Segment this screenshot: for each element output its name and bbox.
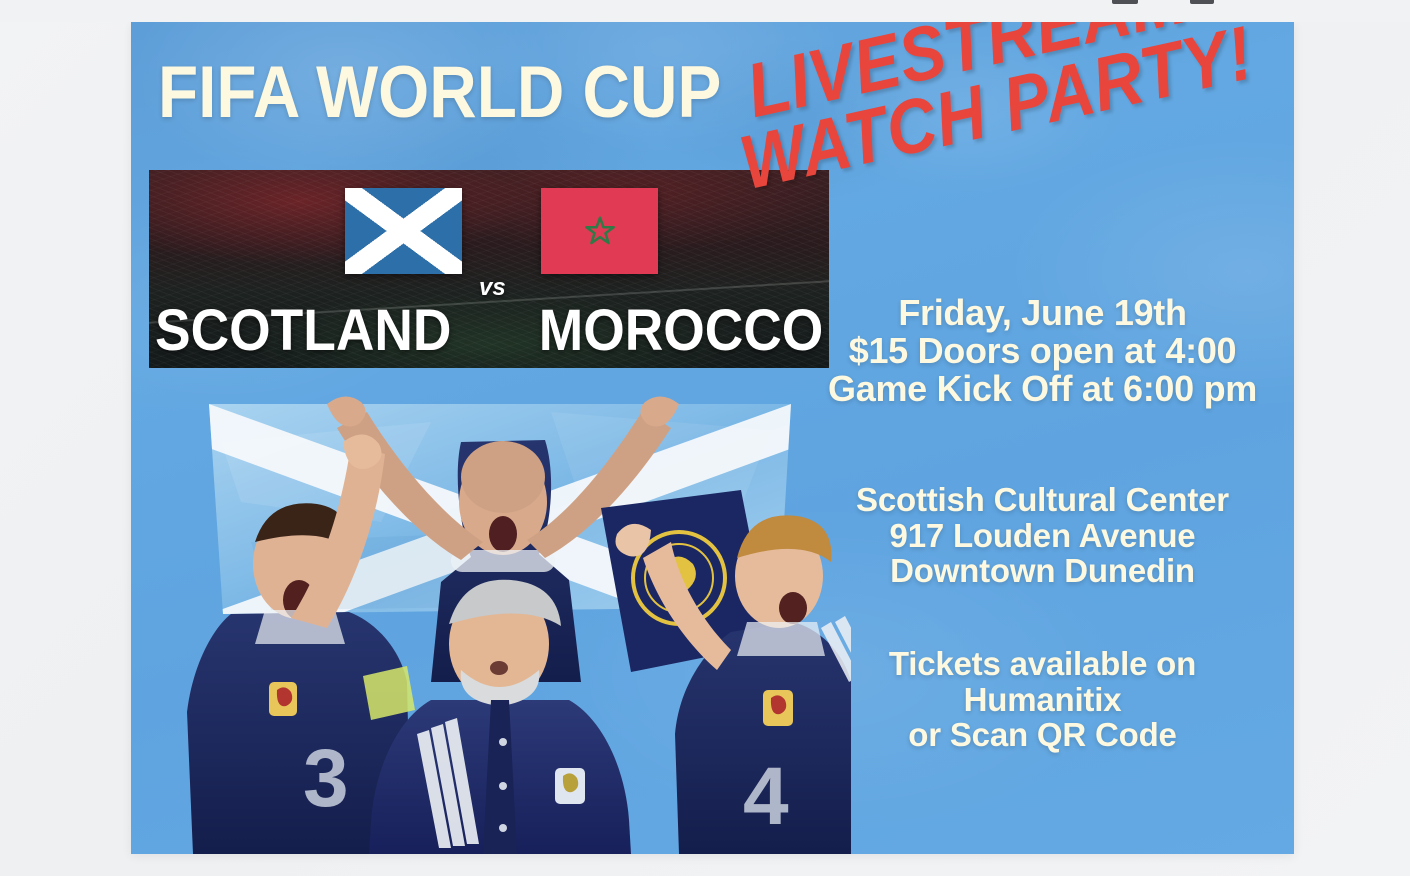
coach-center-front (369, 580, 631, 854)
event-kickoff: Game Kick Off at 6:00 pm (791, 370, 1294, 408)
event-when-block: Friday, June 19th $15 Doors open at 4:00… (791, 294, 1294, 408)
tickets-qr-hint: or Scan QR Code (791, 717, 1294, 752)
page-title: FIFA WORLD CUP (158, 58, 721, 129)
svg-text:3: 3 (303, 733, 349, 824)
tickets-line-1: Tickets available on (791, 646, 1294, 681)
morocco-flag-icon (541, 188, 658, 274)
venue-name: Scottish Cultural Center (791, 482, 1294, 517)
event-price-doors: $15 Doors open at 4:00 (791, 332, 1294, 370)
team-names-row: SCOTLAND MOROCCO (149, 302, 829, 360)
versus-label: vs (479, 274, 506, 302)
event-details: Friday, June 19th $15 Doors open at 4:00… (791, 294, 1294, 752)
tickets-block: Tickets available on Humanitix or Scan Q… (791, 646, 1294, 752)
svg-text:4: 4 (743, 751, 789, 842)
team-name-right: MOROCCO (538, 302, 823, 360)
toolbar-icon-right[interactable] (1190, 0, 1214, 4)
venue-address: 917 Louden Avenue (791, 518, 1294, 553)
scotland-flag-icon (345, 188, 462, 274)
event-venue-block: Scottish Cultural Center 917 Louden Aven… (791, 482, 1294, 588)
match-banner: vs SCOTLAND MOROCCO (149, 170, 829, 368)
tickets-provider: Humanitix (791, 682, 1294, 717)
toolbar-icon-left[interactable] (1112, 0, 1138, 4)
browser-toolbar-strip (0, 0, 1410, 22)
event-date: Friday, June 19th (791, 294, 1294, 332)
page-root: FIFA WORLD CUP LIVESTREAM WATCH PARTY! v… (0, 0, 1410, 876)
morocco-star-icon (584, 215, 616, 247)
scotland-players-photo: 3 4 (131, 382, 851, 854)
team-name-left: SCOTLAND (155, 302, 451, 360)
venue-area: Downtown Dunedin (791, 553, 1294, 588)
event-poster[interactable]: FIFA WORLD CUP LIVESTREAM WATCH PARTY! v… (131, 22, 1294, 854)
flag-row (149, 188, 829, 280)
